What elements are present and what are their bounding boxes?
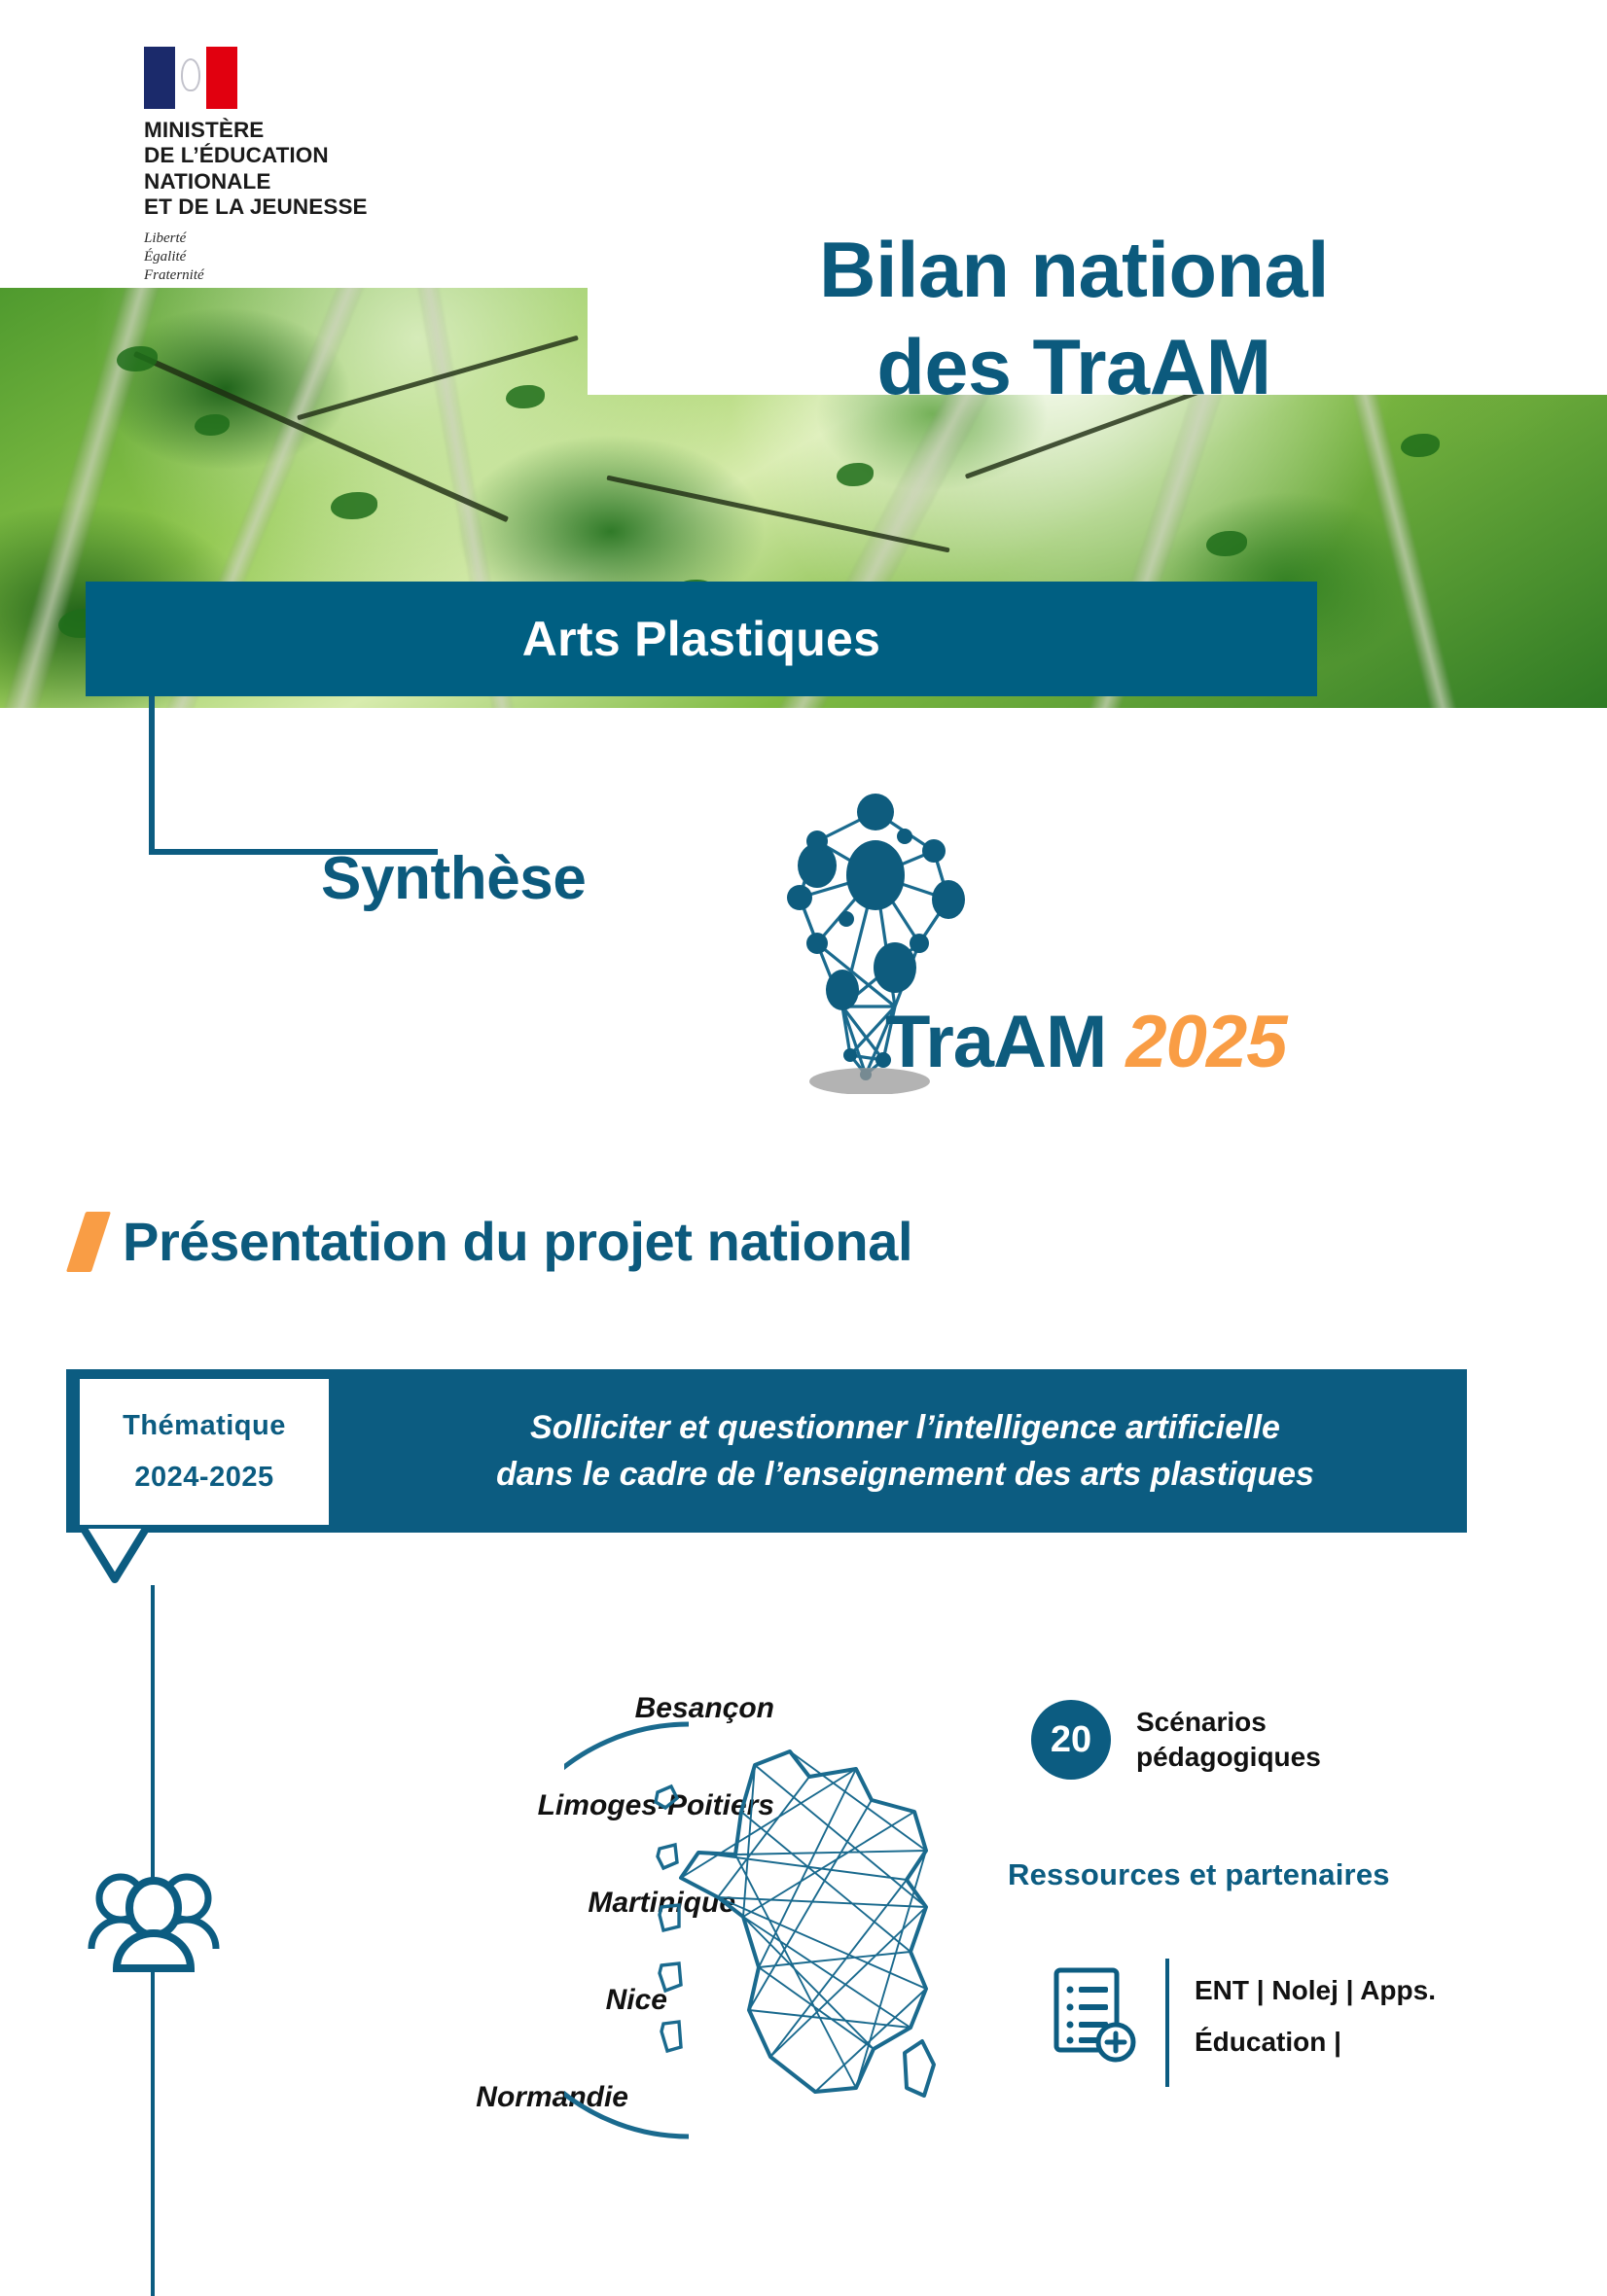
orange-slash-icon — [66, 1212, 111, 1272]
republic-motto: Liberté Égalité Fraternité — [144, 230, 397, 285]
resources-divider — [1165, 1959, 1169, 2087]
page-title-line-1: Bilan national — [588, 222, 1560, 319]
french-flag-marianne-icon — [144, 47, 237, 109]
traam-wordmark: TraAM 2025 — [885, 1000, 1286, 1084]
section-heading-label: Présentation du projet national — [123, 1210, 912, 1273]
traam-word: TraAM — [885, 1001, 1106, 1083]
motto-line-3: Fraternité — [144, 266, 397, 285]
thematic-tag: Thématique 2024-2025 — [80, 1375, 333, 1529]
ministry-logo: MINISTÈRE DE L’ÉDUCATION NATIONALE ET DE… — [144, 47, 397, 285]
traam-year: 2025 — [1125, 1001, 1286, 1083]
france-network-map-icon — [564, 1707, 953, 2154]
section-heading: Présentation du projet national — [76, 1210, 912, 1273]
thematic-statement-line-2: dans le cadre de l’enseignement des arts… — [496, 1451, 1314, 1498]
thematic-tag-line-1: Thématique — [123, 1410, 286, 1442]
scenarios-stat: 20 Scénarios pédagogiques — [1031, 1700, 1321, 1780]
resources-text-line-2: Éducation | — [1195, 2016, 1436, 2067]
page-title-line-2: des TraAM — [588, 319, 1560, 416]
document-list-add-icon — [1051, 1964, 1140, 2066]
ministry-name-line-1: MINISTÈRE — [144, 118, 397, 143]
scenarios-label: Scénarios pédagogiques — [1136, 1705, 1321, 1776]
thematic-callout: Solliciter et questionner l’intelligence… — [66, 1369, 1467, 1540]
scenarios-count-badge: 20 — [1031, 1700, 1111, 1780]
thematic-tag-line-2: 2024-2025 — [134, 1462, 273, 1494]
ministry-name-line-4: ET DE LA JEUNESSE — [144, 194, 397, 220]
thematic-statement-line-1: Solliciter et questionner l’intelligence… — [530, 1404, 1280, 1451]
subject-banner-label: Arts Plastiques — [522, 611, 881, 667]
ministry-name: MINISTÈRE DE L’ÉDUCATION NATIONALE ET DE… — [144, 118, 397, 220]
resources-text: ENT | Nolej | Apps. Éducation | — [1195, 1964, 1436, 2067]
resources-text-line-1: ENT | Nolej | Apps. — [1195, 1964, 1436, 2016]
thematic-tag-pointer — [66, 1525, 358, 1642]
page-title: Bilan national des TraAM — [588, 222, 1560, 417]
ministry-name-line-2: DE L’ÉDUCATION — [144, 143, 397, 168]
subject-banner: Arts Plastiques — [86, 582, 1317, 696]
motto-line-2: Égalité — [144, 248, 397, 266]
thematic-statement: Solliciter et questionner l’intelligence… — [348, 1369, 1462, 1533]
motto-line-1: Liberté — [144, 230, 397, 248]
group-of-people-icon — [86, 1867, 222, 1984]
ministry-name-line-3: NATIONALE — [144, 169, 397, 194]
resources-row: ENT | Nolej | Apps. Éducation | — [1051, 1964, 1436, 2087]
scenarios-label-line-2: pédagogiques — [1136, 1740, 1321, 1775]
scenarios-label-line-1: Scénarios — [1136, 1705, 1321, 1740]
synthesis-label: Synthèse — [321, 844, 730, 913]
resources-title: Ressources et partenaires — [1008, 1857, 1390, 1892]
